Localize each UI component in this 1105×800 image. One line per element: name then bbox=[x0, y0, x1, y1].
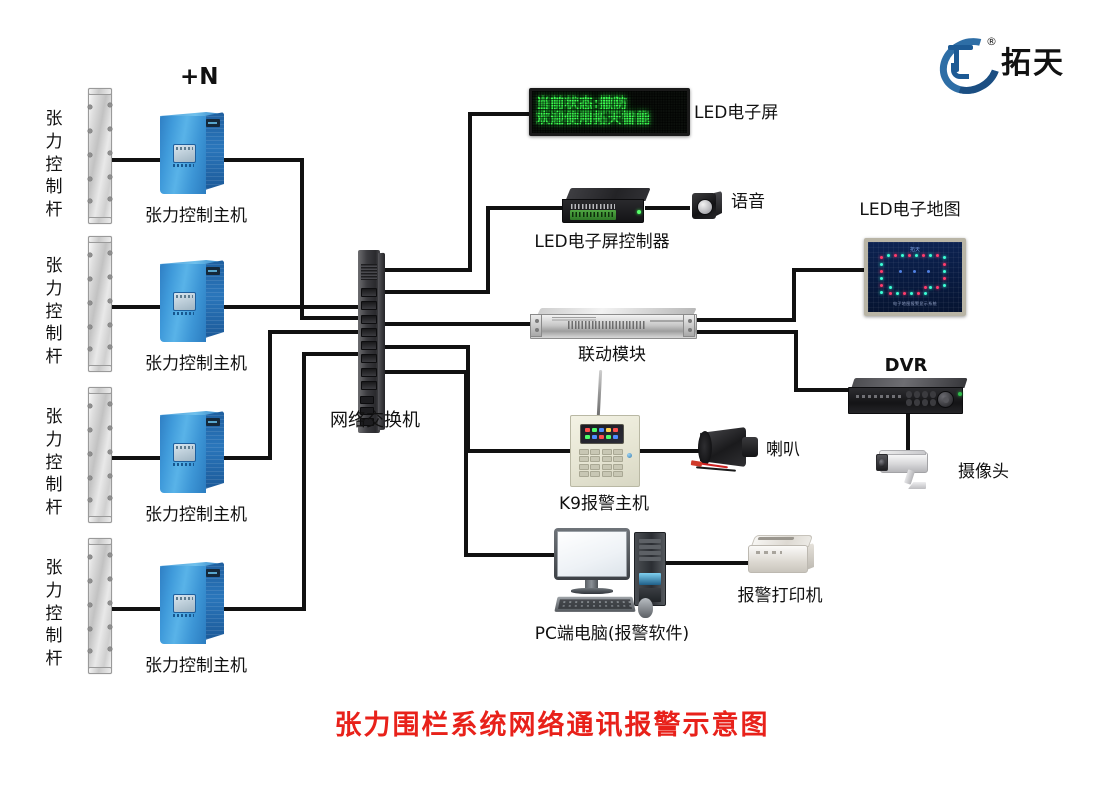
tension-control-pole-4 bbox=[88, 538, 112, 674]
tension-control-pole-1 bbox=[88, 88, 112, 224]
pole-label-4: 张力控制杆 bbox=[44, 557, 64, 671]
dvr-recorder-icon bbox=[848, 378, 966, 413]
alarm-panel-icon bbox=[570, 415, 638, 485]
link-bus1-vertical bbox=[300, 158, 304, 320]
network-switch-label: 网络交换机 bbox=[330, 410, 420, 431]
link-linkmod-dvr-h2 bbox=[794, 388, 856, 392]
link-bus4-vertical bbox=[302, 352, 306, 611]
tuotian-swoosh-logo-icon: ® bbox=[938, 36, 994, 84]
link-pc-printer bbox=[664, 561, 750, 565]
tension-control-host-3 bbox=[160, 411, 224, 497]
network-switch-icon bbox=[352, 250, 386, 433]
link-pole3-host3 bbox=[112, 456, 166, 460]
led-sign-icon: 当前状态:撤防 欢迎使用拓天智能 bbox=[529, 88, 690, 136]
tension-control-pole-3 bbox=[88, 387, 112, 523]
link-pole1-host1 bbox=[112, 158, 166, 162]
printer-label: 报警打印机 bbox=[738, 586, 823, 606]
link-host4-bus bbox=[224, 607, 306, 611]
desktop-computer-icon bbox=[554, 528, 674, 616]
link-switch-ledctl-h2 bbox=[486, 206, 562, 210]
link-linkmod-ledmap-h1 bbox=[694, 318, 796, 322]
link-pole4-host4 bbox=[112, 607, 166, 611]
link-dvr-camera bbox=[906, 410, 910, 454]
k9-alarm-label: K9报警主机 bbox=[559, 494, 649, 514]
host-label-1: 张力控制主机 bbox=[145, 206, 247, 226]
link-switch-pc-v bbox=[464, 370, 468, 557]
tension-control-host-4 bbox=[160, 562, 224, 648]
link-switch-pc-h2 bbox=[464, 553, 562, 557]
pole-label-2: 张力控制杆 bbox=[44, 255, 64, 369]
tension-control-host-2 bbox=[160, 260, 224, 346]
link-pole2-host2 bbox=[112, 305, 166, 309]
linkage-module-rack-icon bbox=[530, 308, 695, 338]
link-ledctl-voice bbox=[645, 206, 690, 210]
diagram-title: 张力围栏系统网络通讯报警示意图 bbox=[335, 703, 770, 742]
led-controller-label: LED电子屏控制器 bbox=[534, 232, 669, 252]
link-host1-bus bbox=[224, 158, 304, 162]
link-linkmod-dvr-v bbox=[794, 330, 798, 392]
link-host3-bus bbox=[224, 456, 272, 460]
led-map-logo-text: 拓天 bbox=[910, 246, 920, 253]
link-bus3-vertical bbox=[268, 330, 272, 460]
link-k9-horn bbox=[638, 449, 700, 453]
bullet-camera-icon bbox=[876, 450, 942, 496]
link-bus3-switch bbox=[268, 330, 358, 334]
link-linkmod-ledmap-v bbox=[792, 268, 796, 322]
host-label-4: 张力控制主机 bbox=[145, 656, 247, 676]
led-sign-line-2: 欢迎使用拓天智能 bbox=[532, 112, 687, 127]
link-switch-ledctl-v bbox=[486, 206, 490, 294]
diagram-canvas: ® 拓天 +N bbox=[0, 0, 1105, 800]
voice-label: 语音 bbox=[731, 192, 765, 212]
tension-control-pole-2 bbox=[88, 236, 112, 372]
horn-label: 喇叭 bbox=[766, 440, 800, 460]
link-linkmod-ledmap-h2 bbox=[792, 268, 864, 272]
dvr-label: DVR bbox=[885, 355, 928, 376]
tension-control-host-1 bbox=[160, 112, 224, 198]
link-linkmod-dvr-h1 bbox=[694, 330, 798, 334]
link-switch-ledsign-v bbox=[468, 112, 472, 272]
link-switch-k9-h2 bbox=[466, 449, 570, 453]
link-bus1-switch bbox=[300, 316, 358, 320]
alarm-printer-icon bbox=[748, 535, 814, 573]
plus-n-label: +N bbox=[180, 64, 219, 90]
link-bus4-switch bbox=[302, 352, 358, 356]
host-label-2: 张力控制主机 bbox=[145, 354, 247, 374]
brand-name: 拓天 bbox=[1001, 38, 1065, 82]
linkage-module-label: 联动模块 bbox=[578, 345, 646, 365]
led-sign-label: LED电子屏 bbox=[694, 103, 778, 123]
voice-speaker-icon bbox=[692, 191, 722, 221]
brand-logo: ® 拓天 bbox=[938, 36, 1065, 84]
led-controller-box-icon bbox=[562, 188, 648, 222]
link-switch-ledsign-h2 bbox=[468, 112, 530, 116]
link-host2-switch bbox=[224, 305, 358, 309]
pc-label: PC端电脑(报警软件) bbox=[535, 624, 689, 644]
registered-mark: ® bbox=[986, 35, 997, 48]
led-electronic-map-icon: 拓天 电子地图报警显示系统 bbox=[864, 238, 966, 316]
host-label-3: 张力控制主机 bbox=[145, 505, 247, 525]
horn-speaker-icon bbox=[700, 427, 764, 471]
led-sign-line-1: 当前状态:撤防 bbox=[532, 97, 687, 112]
pole-label-3: 张力控制杆 bbox=[44, 406, 64, 520]
camera-label: 摄像头 bbox=[958, 462, 1009, 482]
pole-label-1: 张力控制杆 bbox=[44, 108, 64, 222]
led-map-caption: 电子地图报警显示系统 bbox=[868, 301, 962, 307]
led-map-label: LED电子地图 bbox=[859, 200, 960, 220]
